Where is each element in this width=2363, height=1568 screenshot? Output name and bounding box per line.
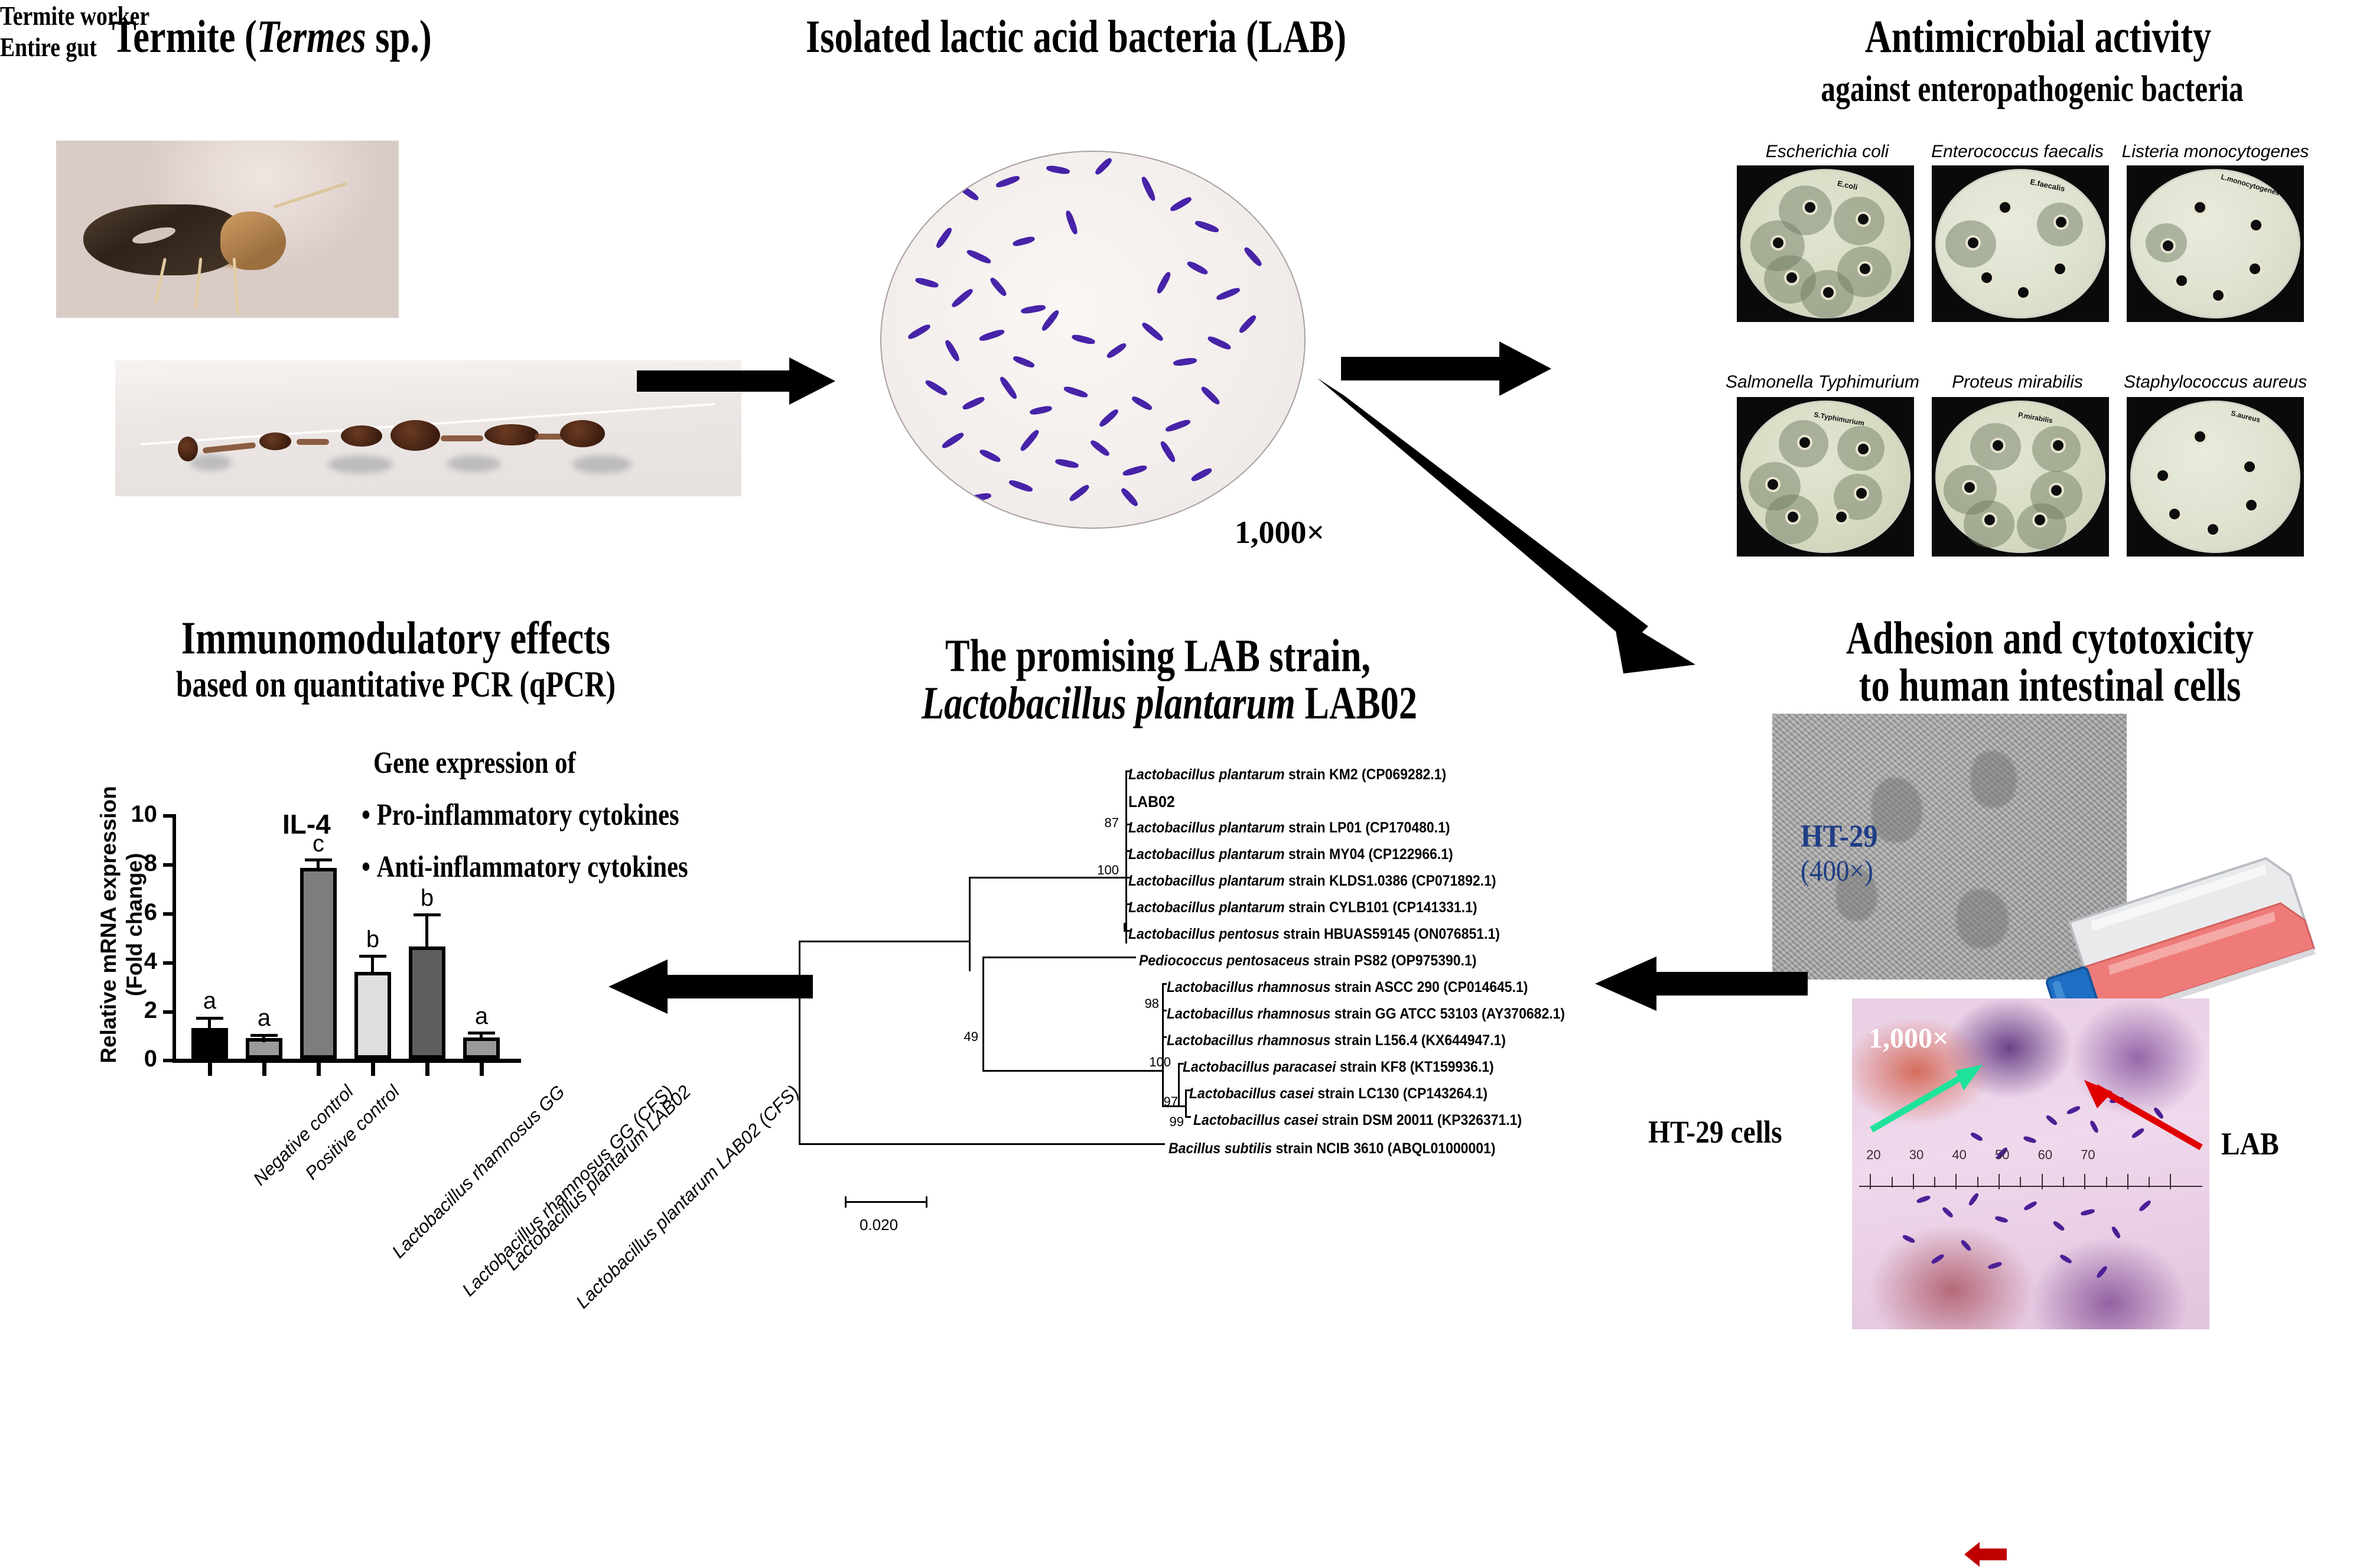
lab02-red-arrow-icon [1964,1541,2007,1568]
plate-species-label-3: Salmonella Typhimurium [1716,372,1929,392]
chart-ytick-2: 2 [126,997,157,1024]
taxon-label-9: Lactobacillus rhamnosus strain GG ATCC 5… [1167,1006,1565,1023]
taxon-label-4: Lactobacillus plantarum strain KLDS1.038… [1128,873,1496,890]
plate-photo-s-typhimurium: S.Typhimurium [1737,397,1914,557]
lab-micrograph-magnification-label: 1,000× [1869,1022,1948,1055]
chart-siglet-5: a [458,1003,505,1030]
chart-ytick-10: 10 [126,801,157,828]
plate-photo-l-monocytogenes: L.monocytogenes [2127,165,2304,322]
adhesion-title-line2: to human intestinal cells [1809,662,2291,709]
chart-xcat-3: Lactobacillus rhamnosus GG (CFS) [458,1081,677,1300]
chart-xcat-5: Lactobacillus plantarum LAB02 (CFS) [572,1081,803,1313]
taxon-label-0: Lactobacillus plantarum strain KM2 (CP06… [1128,766,1446,783]
chart-siglet-4: b [403,885,451,912]
taxon-label-lab02: LAB02 [1128,793,1175,811]
taxon-label-14: Bacillus subtilis strain NCIB 3610 (ABQL… [1169,1140,1496,1157]
plate-photo-e-coli: E.coli [1737,165,1914,322]
isolated-lab-title: Isolated lactic acid bacteria (LAB) [806,13,1345,60]
arrow-adhesion-to-tree [1595,948,1825,1025]
taxon-label-10: Lactobacillus rhamnosus strain L156.4 (K… [1167,1032,1506,1049]
bootstrap-value-100b: 100 [1145,1055,1171,1070]
taxon-label-7: Pediococcus pentosaceus strain PS82 (OP9… [1139,952,1476,970]
plate-species-label-4: Proteus mirabilis [1920,372,2115,392]
taxon-label-13: Lactobacillus casei strain DSM 20011 (KP… [1193,1112,1522,1129]
chart-siglet-0: a [186,988,233,1014]
chart-ytick-8: 8 [126,850,157,877]
taxon-label-11: Lactobacillus paracasei strain KF8 (KT15… [1183,1059,1494,1076]
lab-callout-arrow [2062,1069,2209,1158]
promising-strain-species: Lactobacillus plantarum [922,677,1296,728]
phylogenetic-tree: Lactobacillus plantarum strain KM2 (CP06… [786,756,1601,1111]
ruler-tick-label-40: 40 [1952,1147,1966,1163]
chart-y-axis [172,814,176,1062]
antimicrobial-title-line2: against enteropathogenic bacteria [1768,71,2297,108]
promising-strain-title-line2: Lactobacillus plantarum LAB02 [922,679,1394,727]
ruler-tick-label-60: 60 [2038,1147,2052,1163]
plate-photo-p-mirabilis: P.mirabilis [1932,397,2109,557]
plate-species-label-5: Staphylococcus aureus [2112,372,2319,392]
lab-callout-label: LAB [2221,1125,2279,1162]
chart-bar-0 [191,1028,228,1059]
chart-bar-3 [354,972,391,1059]
taxon-label-12: Lactobacillus casei strain LC130 (CP1432… [1189,1085,1488,1102]
plate-photo-s-aureus: S.aureus [2127,397,2304,557]
gram-stain-micrograph [880,151,1306,529]
phylo-scale-bar [845,1196,927,1208]
promising-strain-code: LAB02 [1296,677,1417,728]
plate-species-label-2: Listeria monocytogenes [2112,142,2319,162]
taxon-label-3: Lactobacillus plantarum strain MY04 (CP1… [1128,846,1453,863]
plate-photo-e-faecalis: E.faecalis [1932,165,2109,322]
bootstrap-value-97: 97 [1152,1094,1178,1110]
ht29-cells-callout-label: HT-29 cells [1648,1114,1782,1150]
arrow-gut-to-lab [637,346,873,417]
chart-x-axis [172,1059,521,1063]
ruler-tick-label-30: 30 [1909,1147,1923,1163]
plate-species-label-1: Enterococcus faecalis [1920,142,2115,162]
gram-stain-magnification-label: 1,000× [1235,514,1324,551]
chart-ytick-4: 4 [126,948,157,975]
chart-bar-4 [409,946,445,1059]
ht29-cells-callout-arrow [1867,1058,1997,1134]
bootstrap-value-87: 87 [1093,815,1119,831]
taxon-label-2: Lactobacillus plantarum strain LP01 (CP1… [1128,819,1450,837]
ruler-tick-label-50: 50 [1995,1147,2009,1163]
plate-species-label-0: Escherichia coli [1730,142,1925,162]
immuno-title-line2: based on quantitative PCR (qPCR) [160,666,632,704]
bootstrap-value-99: 99 [1158,1114,1184,1130]
il4-bar-chart: Relative mRNA expression (Fold change) I… [83,768,532,1075]
termite-worker-photo [56,141,399,318]
chart-ytick-6: 6 [126,899,157,926]
taxon-label-5: Lactobacillus plantarum strain CYLB101 (… [1128,899,1477,916]
ruler-tick-label-20: 20 [1866,1147,1880,1163]
adhesion-title-line1: Adhesion and cytotoxicity [1809,614,2291,662]
arrow-tree-to-chart [608,951,833,1028]
ht29-magnification-label: (400×) [1801,853,1873,887]
chart-siglet-2: c [295,831,342,857]
bootstrap-value-98: 98 [1133,996,1159,1011]
lab-adhesion-micrograph: 20 30 40 50 60 70 1,000× [1852,998,2209,1329]
antimicrobial-title-line1: Antimicrobial activity [1797,13,2279,60]
chart-ytick-0: 0 [126,1046,157,1072]
immuno-title-line1: Immunomodulatory effects [160,614,632,662]
bootstrap-value-49: 49 [952,1029,978,1045]
promising-strain-title-line1: The promising LAB strain, [922,632,1394,679]
chart-siglet-1: a [240,1005,288,1032]
bootstrap-value-100: 100 [1093,863,1119,878]
chart-siglet-3: b [349,926,396,953]
taxon-label-6: Lactobacillus pentosus strain HBUAS59145… [1128,926,1500,943]
taxon-label-8: Lactobacillus rhamnosus strain ASCC 290 … [1167,979,1528,996]
ht29-label: HT-29 [1801,818,1878,854]
chart-bar-2 [300,868,337,1059]
phylo-scale-bar-label: 0.020 [860,1216,898,1234]
